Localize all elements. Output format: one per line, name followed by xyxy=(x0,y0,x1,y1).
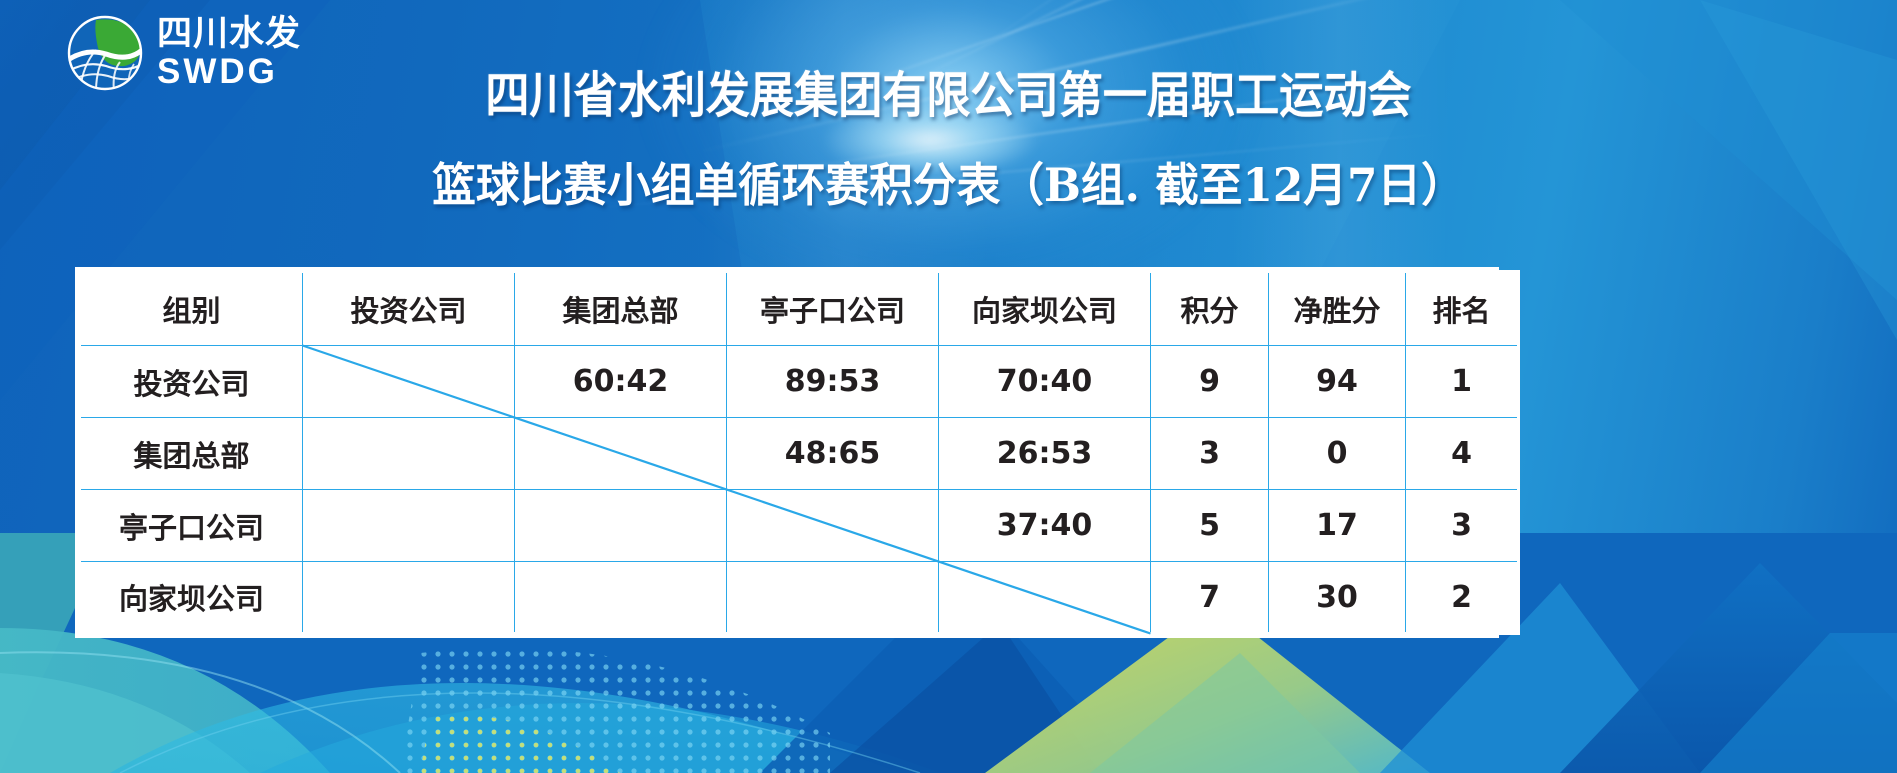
row-team-name: 投资公司 xyxy=(80,346,303,418)
cell-score xyxy=(727,562,939,634)
cell-score: 70:40 xyxy=(939,346,1151,418)
cell-score xyxy=(303,418,515,490)
cell-score xyxy=(303,346,515,418)
cell-rank: 3 xyxy=(1406,490,1519,562)
row-team-name: 集团总部 xyxy=(80,418,303,490)
cell-score xyxy=(303,490,515,562)
cell-rank: 4 xyxy=(1406,418,1519,490)
table-row: 向家坝公司 7 30 2 xyxy=(80,562,1519,634)
standings-table-container: 组别 投资公司 集团总部 亭子口公司 向家坝公司 积分 净胜分 排名 投资公司 … xyxy=(78,270,1496,635)
header-group: 组别 xyxy=(80,272,303,346)
header-investment: 投资公司 xyxy=(303,272,515,346)
header-xiangjiaba: 向家坝公司 xyxy=(939,272,1151,346)
cell-score xyxy=(727,490,939,562)
row-team-name: 向家坝公司 xyxy=(80,562,303,634)
header-rank: 排名 xyxy=(1406,272,1519,346)
cell-points: 9 xyxy=(1151,346,1269,418)
header-points: 积分 xyxy=(1151,272,1269,346)
cell-score: 60:42 xyxy=(515,346,727,418)
header-headquarters: 集团总部 xyxy=(515,272,727,346)
cell-points: 3 xyxy=(1151,418,1269,490)
table-row: 集团总部 48:65 26:53 3 0 4 xyxy=(80,418,1519,490)
cell-point-diff: 0 xyxy=(1269,418,1406,490)
standings-table: 组别 投资公司 集团总部 亭子口公司 向家坝公司 积分 净胜分 排名 投资公司 … xyxy=(78,270,1520,635)
table-header-row: 组别 投资公司 集团总部 亭子口公司 向家坝公司 积分 净胜分 排名 xyxy=(80,272,1519,346)
cell-score: 37:40 xyxy=(939,490,1151,562)
cell-score: 26:53 xyxy=(939,418,1151,490)
header-tingzikou: 亭子口公司 xyxy=(727,272,939,346)
cell-score xyxy=(515,490,727,562)
cell-point-diff: 17 xyxy=(1269,490,1406,562)
title-block: 四川省水利发展集团有限公司第一届职工运动会 篮球比赛小组单循环赛积分表（B组. … xyxy=(0,0,1897,215)
cell-point-diff: 94 xyxy=(1269,346,1406,418)
cell-rank: 2 xyxy=(1406,562,1519,634)
cell-score xyxy=(939,562,1151,634)
page-subtitle: 篮球比赛小组单循环赛积分表（B组. 截至12月7日） xyxy=(47,149,1849,215)
header-point-diff: 净胜分 xyxy=(1269,272,1406,346)
table-row: 亭子口公司 37:40 5 17 3 xyxy=(80,490,1519,562)
cell-point-diff: 30 xyxy=(1269,562,1406,634)
cell-rank: 1 xyxy=(1406,346,1519,418)
cell-score xyxy=(303,562,515,634)
page-title: 四川省水利发展集团有限公司第一届职工运动会 xyxy=(95,56,1802,127)
cell-score xyxy=(515,562,727,634)
cell-points: 5 xyxy=(1151,490,1269,562)
cell-points: 7 xyxy=(1151,562,1269,634)
cell-score: 48:65 xyxy=(727,418,939,490)
row-team-name: 亭子口公司 xyxy=(80,490,303,562)
table-row: 投资公司 60:42 89:53 70:40 9 94 1 xyxy=(80,346,1519,418)
cell-score: 89:53 xyxy=(727,346,939,418)
cell-score xyxy=(515,418,727,490)
